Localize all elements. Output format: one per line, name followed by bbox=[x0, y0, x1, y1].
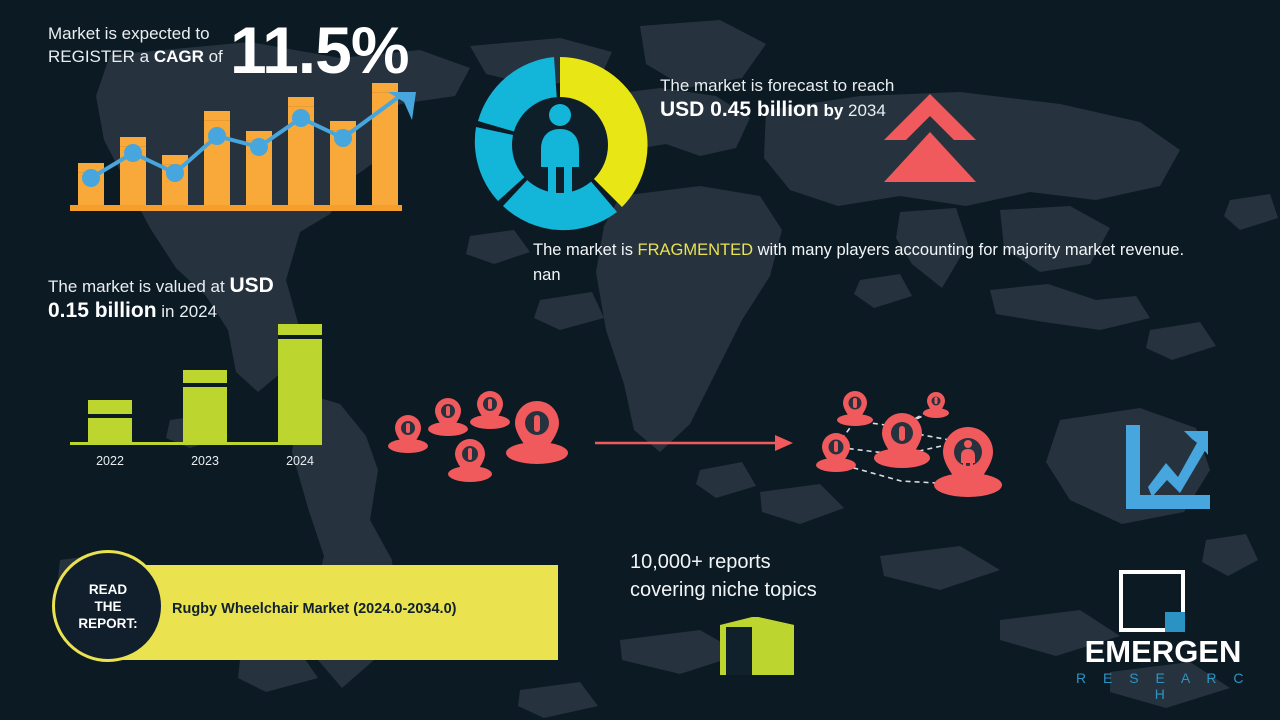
cagr-value: 11.5% bbox=[230, 12, 409, 88]
fragmented-highlight: FRAGMENTED bbox=[638, 241, 754, 259]
double-up-arrow-icon bbox=[880, 92, 980, 184]
bar-2023 bbox=[183, 370, 227, 442]
reports-count-text: 10,000+ reports covering niche topics bbox=[630, 548, 890, 604]
bar-2024 bbox=[278, 324, 322, 442]
axis-label-2022: 2022 bbox=[80, 454, 140, 468]
forecast-text: The market is forecast to reach USD 0.45… bbox=[660, 74, 900, 123]
logo-accent bbox=[1165, 612, 1185, 632]
location-pins-cluster-icon bbox=[385, 385, 580, 495]
growth-chart-arrow-icon bbox=[70, 90, 410, 220]
forecast-value: USD 0.45 billion bbox=[660, 98, 819, 121]
axis-label-2024: 2024 bbox=[270, 454, 330, 468]
donut-chart-person-icon bbox=[470, 55, 650, 235]
bar-2022 bbox=[88, 400, 132, 442]
infographic-canvas: Market is expected to REGISTER a CAGR of… bbox=[0, 0, 1280, 720]
logo-subtitle: R E S E A R C H bbox=[1063, 670, 1263, 702]
forecast-line1: The market is forecast to bbox=[660, 76, 847, 95]
square-chart-logo-icon bbox=[1119, 570, 1185, 632]
report-title: Rugby Wheelchair Market (2024.0-2034.0) bbox=[172, 601, 456, 617]
chart-baseline bbox=[70, 442, 322, 445]
read-the-report-label: READ THE REPORT: bbox=[55, 553, 161, 659]
right-arrow-icon bbox=[595, 432, 795, 454]
connected-location-pins-icon bbox=[805, 385, 1020, 503]
market-value-bar-chart: 2022 2023 2024 bbox=[70, 290, 330, 470]
logo-name: EMERGEN bbox=[1063, 634, 1263, 670]
reports-line2: covering niche topics bbox=[630, 576, 890, 604]
reports-line1: 10,000+ reports bbox=[630, 548, 890, 576]
forecast-by: by bbox=[823, 101, 843, 120]
axis-label-2023: 2023 bbox=[175, 454, 235, 468]
fragmented-pre: The market is bbox=[533, 241, 638, 259]
open-book-icon bbox=[718, 613, 796, 681]
emergen-research-logo: EMERGEN R E S E A R C H bbox=[1063, 570, 1263, 700]
fragmented-statement: The market is FRAGMENTED with many playe… bbox=[533, 238, 1213, 288]
read-the-report-button[interactable]: READ THE REPORT: bbox=[52, 550, 164, 662]
trend-line-overlay bbox=[70, 90, 410, 220]
growth-chart-icon bbox=[1122, 425, 1210, 513]
